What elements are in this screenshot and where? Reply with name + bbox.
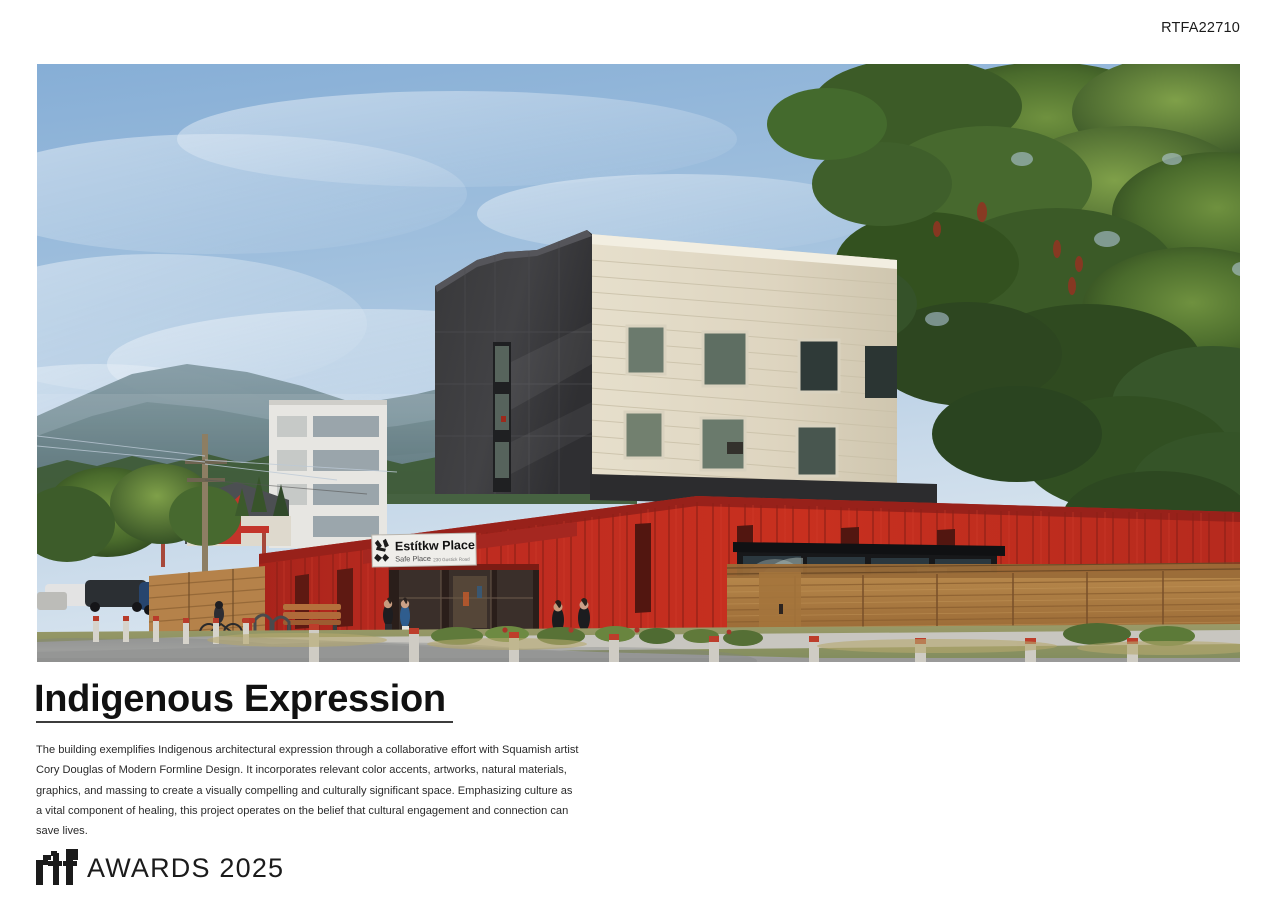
- reference-code: RTFA22710: [1161, 20, 1240, 36]
- project-description: The building exemplifies Indigenous arch…: [36, 740, 581, 841]
- rtf-awards-logo: AWARDS 2025: [36, 849, 284, 885]
- title-underline-rule: [36, 721, 453, 723]
- project-photo: Estítkw Place Safe Place 230 Gostick Roa…: [37, 64, 1240, 662]
- awards-label: AWARDS 2025: [87, 855, 284, 882]
- project-photo-illustration: Estítkw Place Safe Place 230 Gostick Roa…: [37, 64, 1240, 662]
- page-title: Indigenous Expression: [34, 678, 446, 721]
- svg-text:Safe Place: Safe Place: [395, 554, 431, 564]
- rtf-logo-mark: [36, 849, 78, 885]
- svg-text:Estítkw Place: Estítkw Place: [395, 538, 475, 554]
- svg-text:230 Gostick Road: 230 Gostick Road: [433, 557, 470, 563]
